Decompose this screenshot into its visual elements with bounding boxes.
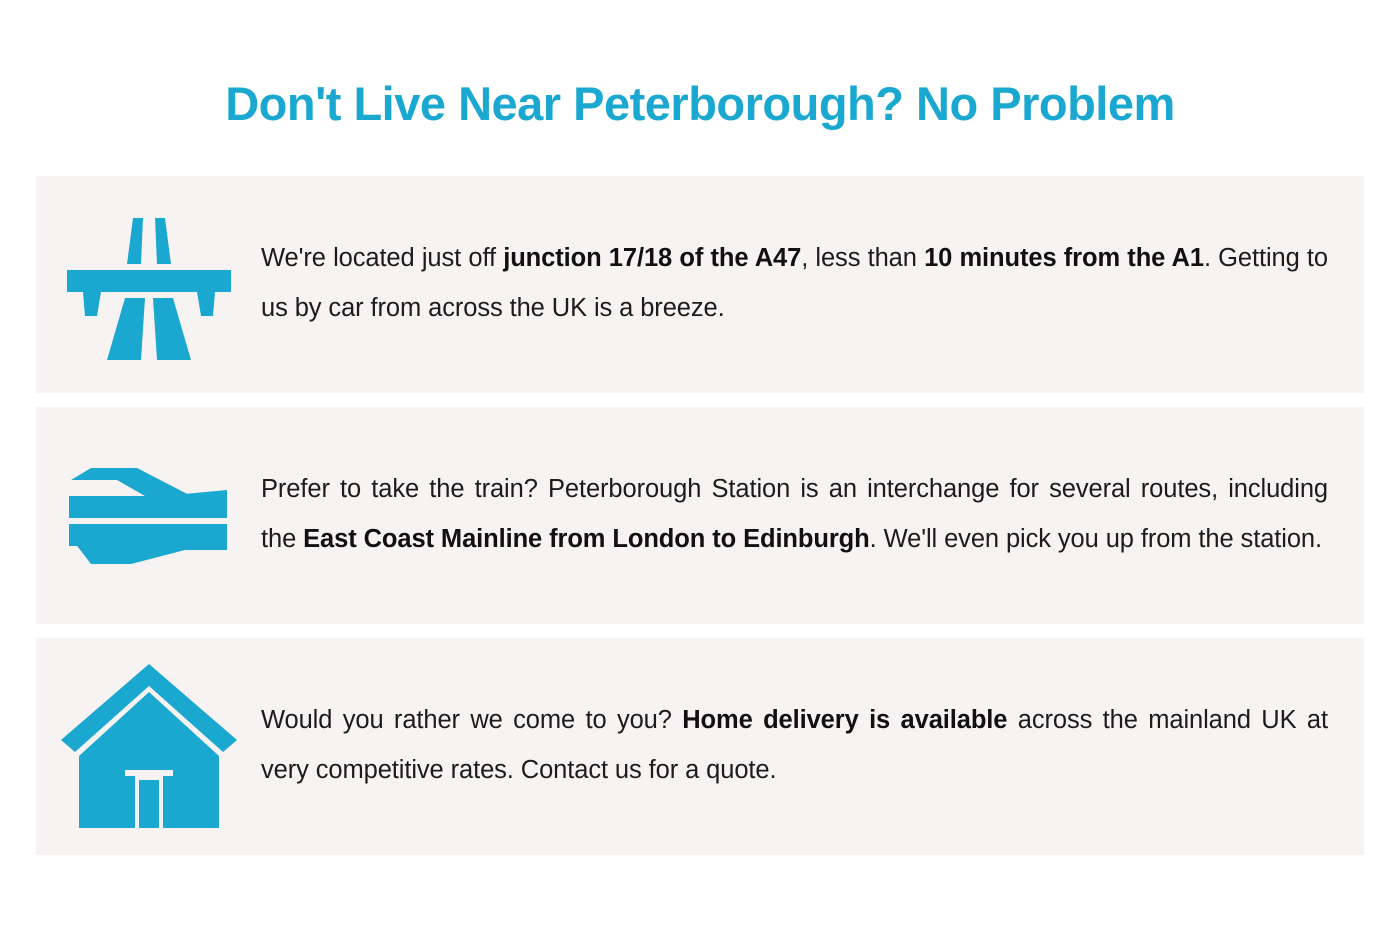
text-segment: , less than [801, 244, 924, 272]
card-home-delivery: Would you rather we come to you? Home de… [36, 638, 1364, 855]
card-home-delivery-text: Would you rather we come to you? Home de… [261, 696, 1364, 796]
text-segment-bold: 10 minutes from the A1 [924, 244, 1204, 272]
card-motorway-text: We're located just off junction 17/18 of… [261, 234, 1364, 334]
text-segment: . We'll even pick you up from the statio… [870, 525, 1322, 553]
card-motorway: We're located just off junction 17/18 of… [36, 176, 1364, 393]
page-title: Don't Live Near Peterborough? No Problem [0, 0, 1400, 130]
card-rail-text: Prefer to take the train? Peterborough S… [261, 465, 1364, 565]
text-segment-bold: East Coast Mainline from London to Edinb… [303, 525, 870, 553]
card-list: We're located just off junction 17/18 of… [0, 176, 1400, 855]
text-segment: We're located just off [261, 244, 503, 272]
card-rail: Prefer to take the train? Peterborough S… [36, 407, 1364, 624]
text-segment-bold: junction 17/18 of the A47 [503, 244, 801, 272]
house-icon [36, 660, 261, 832]
text-segment: Would you rather we come to you? [261, 706, 682, 734]
motorway-icon [36, 204, 261, 364]
text-segment-bold: Home delivery is available [682, 706, 1007, 734]
national-rail-icon [36, 460, 261, 570]
info-panel: Don't Live Near Peterborough? No Problem [0, 0, 1400, 933]
